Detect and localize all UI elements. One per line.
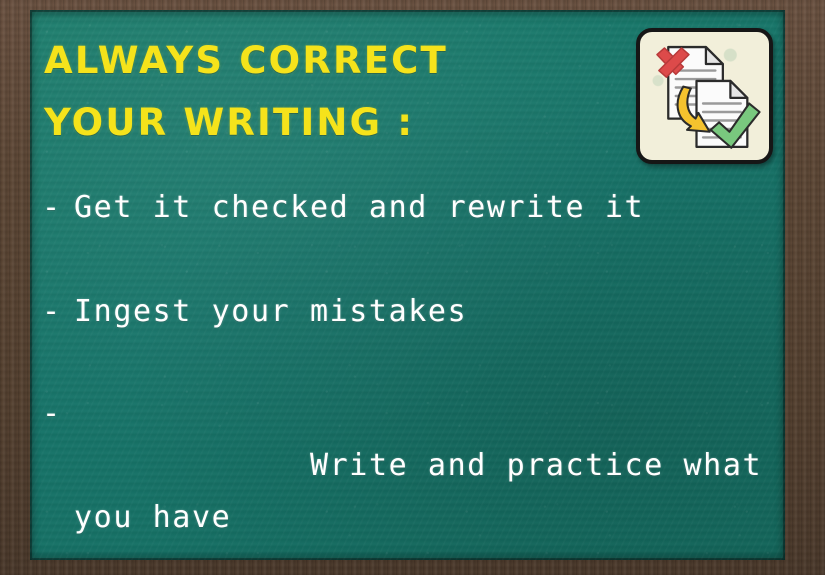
list-item: - Write and practice what you have learn… (42, 388, 775, 560)
bullet-marker: - (42, 182, 74, 234)
list-item: - Get it checked and rewrite it (42, 182, 775, 234)
bullet-list: - Get it checked and rewrite it - Ingest… (42, 182, 775, 560)
bullet-marker: - (42, 286, 74, 338)
list-item: - Ingest your mistakes (42, 286, 775, 338)
title-line-2: YOUR WRITING : (44, 92, 604, 154)
bullet-text-2: Ingest your mistakes (74, 286, 467, 338)
slide-title: ALWAYS CORRECT YOUR WRITING : (44, 30, 604, 154)
slide-content: ALWAYS CORRECT YOUR WRITING : - Get it c… (30, 10, 785, 560)
bullet-marker: - (42, 388, 74, 440)
bullet-text-1: Get it checked and rewrite it (74, 182, 644, 234)
title-line-1: ALWAYS CORRECT (44, 30, 604, 92)
document-correction-icon (636, 28, 773, 164)
bullet-text-3-line-1: Write and practice what you have (74, 448, 782, 535)
chalkboard-wooden-frame: ALWAYS CORRECT YOUR WRITING : - Get it c… (0, 0, 825, 575)
bullet-text-3: Write and practice what you have learned (74, 388, 775, 560)
chalkboard-surface: ALWAYS CORRECT YOUR WRITING : - Get it c… (30, 10, 785, 560)
